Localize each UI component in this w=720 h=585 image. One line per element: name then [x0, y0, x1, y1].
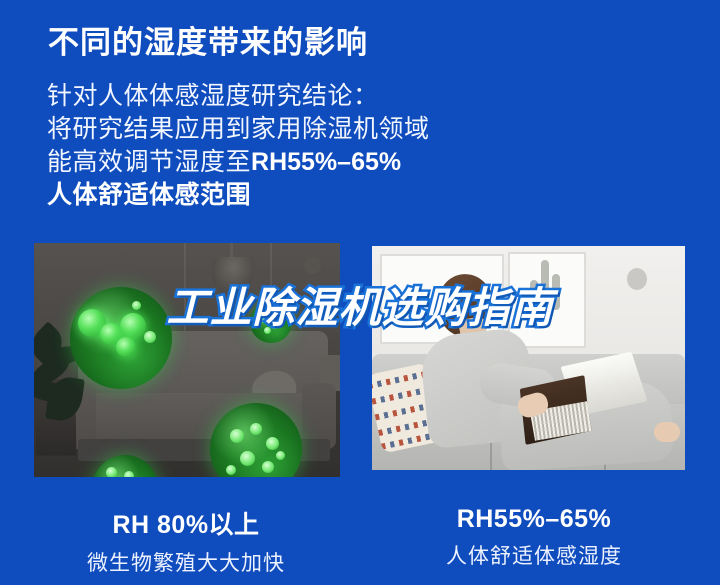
wall-knob: [304, 257, 321, 274]
intro-line-2: 将研究结果应用到家用除湿机领域: [47, 113, 497, 146]
intro-line-3-prefix: 能高效调节湿度至: [47, 148, 251, 176]
poster-root: 不同的湿度带来的影响 针对人体体感湿度研究结论： 将研究结果应用到家用除湿机领域…: [0, 0, 720, 585]
overlay-banner-title: 工业除湿机选购指南: [166, 274, 553, 335]
caption-comfort-humidity: RH55%–65% 人体舒适体感湿度: [384, 505, 684, 570]
caption-left-subtitle: 微生物繁殖大大加快: [36, 547, 336, 577]
caption-high-humidity: RH 80%以上 微生物繁殖大大加快: [36, 505, 336, 577]
wall-speaker: [627, 268, 647, 290]
caption-right-subtitle: 人体舒适体感湿度: [384, 540, 684, 570]
page-title: 不同的湿度带来的影响: [48, 17, 368, 62]
intro-line-3-range: RH55%–65%: [251, 148, 401, 176]
intro-paragraph: 针对人体体感湿度研究结论： 将研究结果应用到家用除湿机领域 能高效调节湿度至RH…: [47, 80, 497, 212]
caption-right-title: RH55%–65%: [384, 505, 684, 534]
intro-line-1: 针对人体体感湿度研究结论：: [47, 80, 497, 113]
intro-line-4: 人体舒适体感范围: [47, 179, 497, 212]
right-seat-seam-1: [490, 441, 492, 470]
microbe-cluster-large: [70, 287, 172, 389]
caption-left-title: RH 80%以上: [36, 505, 336, 541]
person-foot: [654, 422, 680, 442]
intro-line-3: 能高效调节湿度至RH55%–65%: [47, 146, 497, 179]
